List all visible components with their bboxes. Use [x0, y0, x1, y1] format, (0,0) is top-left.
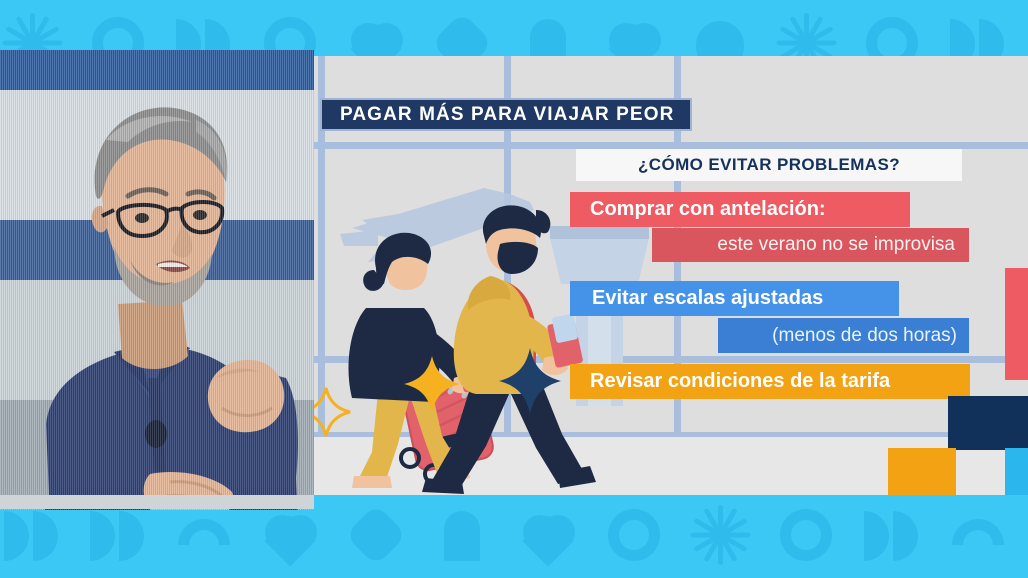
question-bar-text: ¿CÓMO EVITAR PROBLEMAS?: [638, 155, 900, 175]
rainbow-icon: [946, 503, 1010, 567]
title-banner: PAGAR MÁS PARA VIAJAR PEOR: [320, 98, 692, 131]
tip-3-headline-bar: Revisar condiciones de la tarifa: [570, 364, 970, 399]
broadcast-graphic: PAGAR MÁS PARA VIAJAR PEOR ¿CÓMO EVITAR …: [0, 0, 1028, 578]
navy-sparkle-icon: [499, 348, 561, 414]
double-leaf-icon: [860, 503, 924, 567]
tip-1-detail-bar: este verano no se improvisa: [652, 228, 969, 262]
heart-icon: [258, 503, 322, 567]
window-mullion-horizontal: [314, 142, 1028, 149]
presenter-head: [92, 107, 227, 306]
tip-2-headline-bar: Evitar escalas ajustadas: [570, 281, 899, 316]
asterisk-icon: [688, 503, 752, 567]
tip-2-detail-bar: (menos de dos horas): [718, 318, 969, 353]
tip-2-headline-text: Evitar escalas ajustadas: [592, 287, 823, 310]
presenter-video-panel: [0, 50, 314, 510]
travellers-illustration: [314, 196, 644, 495]
ring-icon: [774, 503, 838, 567]
orange-decorative-block: [888, 448, 956, 495]
double-leaf-icon: [0, 503, 64, 567]
double-leaf-icon: [86, 503, 150, 567]
orange-sparkle-icon: [404, 356, 460, 412]
heart-icon: [516, 503, 580, 567]
ring-icon: [602, 503, 666, 567]
pattern-row-bottom: [0, 500, 1028, 570]
navy-decorative-block: [948, 396, 1028, 450]
arch-icon: [430, 503, 494, 567]
video-panel-bottom-strip: [0, 495, 314, 509]
tip-3-headline-text: Revisar condiciones de la tarifa: [590, 370, 890, 393]
presenter-figure: [10, 78, 310, 510]
yellow-outline-sparkle-icon: [314, 386, 352, 438]
cyan-decorative-block: [1005, 448, 1028, 495]
rainbow-icon: [172, 503, 236, 567]
title-banner-text: PAGAR MÁS PARA VIAJAR PEOR: [340, 104, 674, 126]
red-decorative-block: [1005, 268, 1028, 380]
tip-1-detail-text: este verano no se improvisa: [717, 234, 955, 256]
diamond-icon: [344, 503, 408, 567]
tip-1-headline-bar: Comprar con antelación:: [570, 192, 910, 227]
tip-2-detail-text: (menos de dos horas): [772, 325, 957, 347]
tip-1-headline-text: Comprar con antelación:: [590, 198, 826, 221]
question-bar: ¿CÓMO EVITAR PROBLEMAS?: [576, 149, 962, 181]
